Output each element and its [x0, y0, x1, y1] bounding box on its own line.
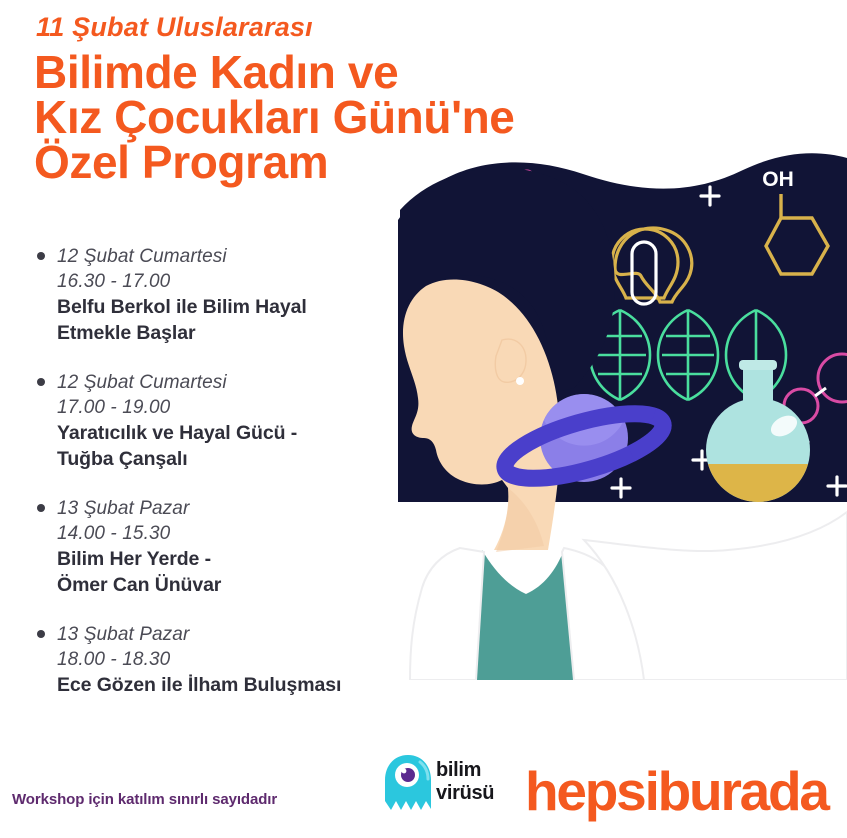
bilim-virusu-logo: bilim virüsü	[383, 753, 511, 819]
event-title: Yaratıcılık ve Hayal Gücü - Tuğba Çanşal…	[57, 420, 428, 472]
bilim-virusu-wordmark: bilim virüsü	[436, 759, 494, 805]
event-title-line: Tuğba Çanşalı	[57, 446, 428, 472]
teal-top	[470, 550, 576, 680]
oh-label: OH	[762, 168, 794, 191]
event-title: Ece Gözen ile İlham Buluşması	[57, 672, 428, 698]
event-title: Belfu Berkol ile Bilim Hayal Etmekle Baş…	[57, 294, 428, 346]
event-day: 13 Şubat Pazar	[57, 496, 428, 521]
page-title: Bilimde Kadın ve Kız Çocukları Günü'ne Ö…	[34, 50, 674, 185]
list-item: 12 Şubat Cumartesi 16.30 - 17.00 Belfu B…	[28, 244, 428, 346]
list-item: 13 Şubat Pazar 18.00 - 18.30 Ece Gözen i…	[28, 622, 428, 698]
event-title-line: Etmekle Başlar	[57, 320, 428, 346]
event-title-line: Belfu Berkol ile Bilim Hayal	[57, 294, 428, 320]
bilim-virusu-line-2: virüsü	[436, 782, 494, 805]
bilim-virusu-line-1: bilim	[436, 759, 494, 782]
program-list: 12 Şubat Cumartesi 16.30 - 17.00 Belfu B…	[28, 244, 428, 698]
poster-root: OH	[0, 0, 847, 838]
event-time: 14.00 - 15.30	[57, 521, 428, 546]
footnote-text: Workshop için katılım sınırlı sayıdadır	[12, 791, 277, 808]
list-item: 12 Şubat Cumartesi 17.00 - 19.00 Yaratıc…	[28, 370, 428, 472]
headline-line-2: Kız Çocukları Günü'ne	[34, 95, 674, 140]
list-item: 13 Şubat Pazar 14.00 - 15.30 Bilim Her Y…	[28, 496, 428, 598]
ghost-icon	[383, 753, 433, 817]
science-illustration: OH	[398, 150, 847, 680]
event-time: 17.00 - 19.00	[57, 395, 428, 420]
event-title-line: Yaratıcılık ve Hayal Gücü -	[57, 420, 428, 446]
event-day: 12 Şubat Cumartesi	[57, 370, 428, 395]
bullet-icon	[37, 504, 45, 512]
event-day: 12 Şubat Cumartesi	[57, 244, 428, 269]
event-day: 13 Şubat Pazar	[57, 622, 428, 647]
event-time: 18.00 - 18.30	[57, 647, 428, 672]
event-time: 16.30 - 17.00	[57, 269, 428, 294]
bullet-icon	[37, 630, 45, 638]
bullet-icon	[37, 252, 45, 260]
hepsiburada-logo: hepsiburada	[525, 762, 828, 820]
event-title-line: Bilim Her Yerde -	[57, 546, 428, 572]
headline-line-3: Özel Program	[34, 140, 674, 185]
event-title-line: Ece Gözen ile İlham Buluşması	[57, 672, 428, 698]
kicker-text: 11 Şubat Uluslararası	[36, 12, 313, 43]
earring-icon	[516, 377, 524, 385]
bullet-icon	[37, 378, 45, 386]
event-title-line: Ömer Can Ünüvar	[57, 572, 428, 598]
event-title: Bilim Her Yerde - Ömer Can Ünüvar	[57, 546, 428, 598]
headline-line-1: Bilimde Kadın ve	[34, 50, 674, 95]
ear-shape	[495, 339, 526, 382]
